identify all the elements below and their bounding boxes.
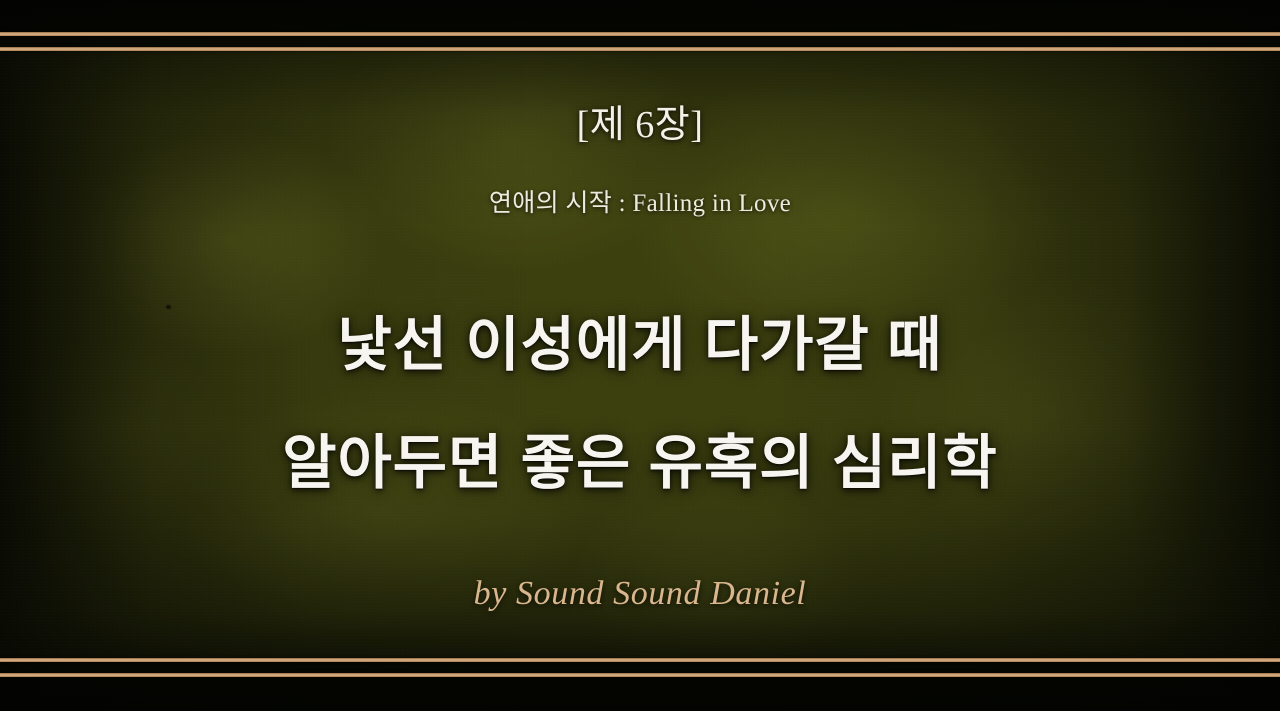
slide-content: [제 6장] 연애의 시작 : Falling in Love 낯선 이성에게 … bbox=[0, 0, 1280, 711]
title-line-2: 알아두면 좋은 유혹의 심리학 bbox=[0, 404, 1280, 522]
byline: by Sound Sound Daniel bbox=[0, 574, 1280, 615]
title-slide: [제 6장] 연애의 시작 : Falling in Love 낯선 이성에게 … bbox=[0, 0, 1280, 711]
chapter-tag: [제 6장] bbox=[0, 106, 1280, 144]
title-line-1: 낯선 이성에게 다가갈 때 bbox=[0, 286, 1280, 404]
main-title: 낯선 이성에게 다가갈 때 알아두면 좋은 유혹의 심리학 bbox=[0, 286, 1280, 522]
chapter-subtitle: 연애의 시작 : Falling in Love bbox=[0, 191, 1280, 216]
